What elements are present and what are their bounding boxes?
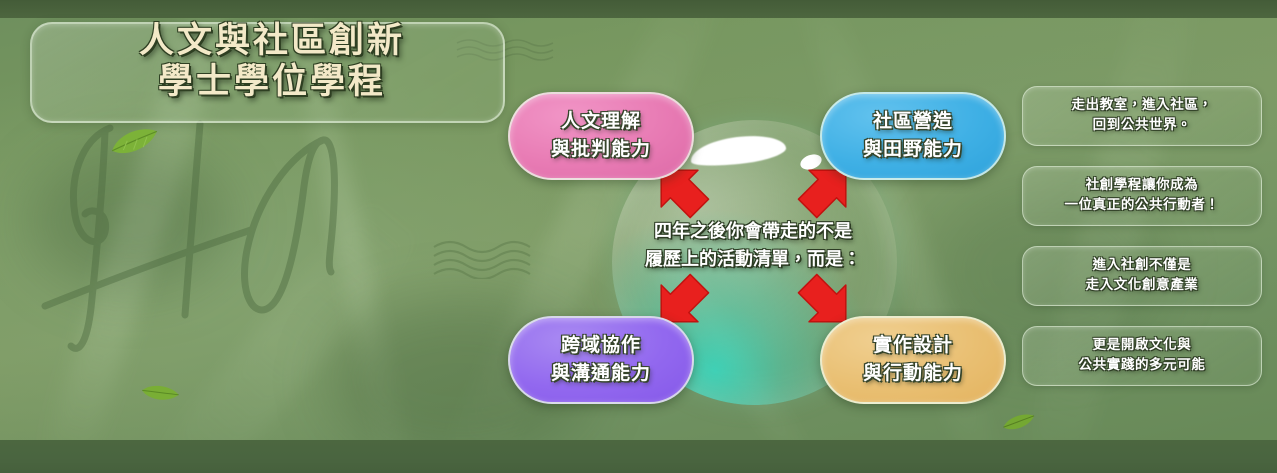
program-banner: 人文與社區創新 學士學位學程 四年之後你會帶走的不是 履歷上的活動清單，而是： … <box>0 0 1277 473</box>
background-blade <box>1013 0 1207 473</box>
competency-pill-collaboration[interactable]: 跨域協作 與溝通能力 <box>508 316 694 404</box>
message-text: 更是開啟文化與 公共實踐的多元可能 <box>1079 336 1206 375</box>
message-card[interactable]: 社創學程讓你成為 一位真正的公共行動者！ <box>1022 166 1262 226</box>
competency-pill-humanities[interactable]: 人文理解 與批判能力 <box>508 92 694 180</box>
page-title: 人文與社區創新 學士學位學程 <box>72 20 472 103</box>
wave-lines-icon <box>430 235 560 279</box>
competency-label: 人文理解 與批判能力 <box>551 108 651 163</box>
competency-pill-community[interactable]: 社區營造 與田野能力 <box>820 92 1006 180</box>
leaf-icon <box>140 382 180 406</box>
message-card[interactable]: 進入社創不僅是 走入文化創意產業 <box>1022 246 1262 306</box>
message-text: 社創學程讓你成為 一位真正的公共行動者！ <box>1064 176 1219 215</box>
top-band <box>0 0 1277 18</box>
message-text: 走出教室，進入社區， 回到公共世界。 <box>1072 96 1213 135</box>
center-caption: 四年之後你會帶走的不是 履歷上的活動清單，而是： <box>588 218 918 274</box>
background-blob <box>30 150 230 290</box>
leaf-icon <box>1001 412 1037 434</box>
competency-label: 社區營造 與田野能力 <box>863 108 963 163</box>
message-card[interactable]: 走出教室，進入社區， 回到公共世界。 <box>1022 86 1262 146</box>
leaf-icon <box>108 128 162 158</box>
message-card[interactable]: 更是開啟文化與 公共實踐的多元可能 <box>1022 326 1262 386</box>
bottom-band <box>0 440 1277 473</box>
hca-monogram-watermark <box>35 110 365 360</box>
competency-label: 實作設計 與行動能力 <box>863 332 963 387</box>
competency-label: 跨域協作 與溝通能力 <box>551 332 651 387</box>
competency-pill-practice[interactable]: 實作設計 與行動能力 <box>820 316 1006 404</box>
background-blade <box>136 182 434 473</box>
message-text: 進入社創不僅是 走入文化創意產業 <box>1086 256 1199 295</box>
